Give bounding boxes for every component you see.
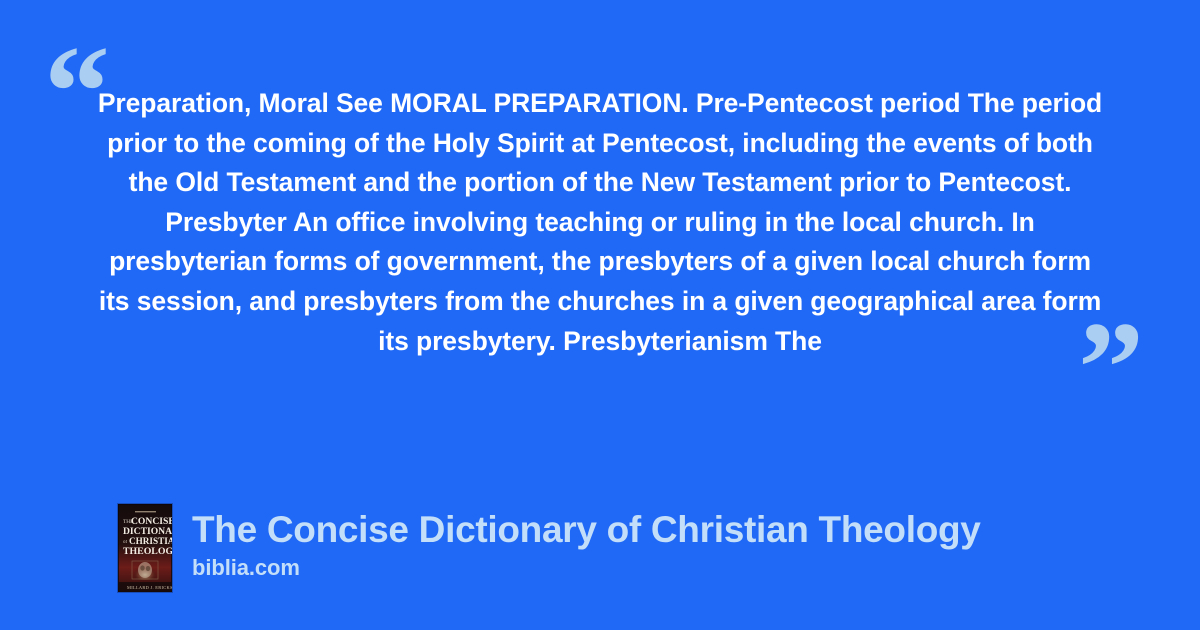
footer-text-block: The Concise Dictionary of Christian Theo… xyxy=(192,508,981,582)
svg-text:CHRISTIAN: CHRISTIAN xyxy=(129,536,172,546)
footer: THE CONCISE DICTIONARY of CHRISTIAN THEO… xyxy=(118,504,981,592)
svg-text:MILLARD J. ERICKSON: MILLARD J. ERICKSON xyxy=(127,585,172,590)
site-url: biblia.com xyxy=(192,554,981,582)
svg-text:THEOLOGY: THEOLOGY xyxy=(123,546,172,557)
book-cover-thumbnail: THE CONCISE DICTIONARY of CHRISTIAN THEO… xyxy=(118,504,172,592)
quote-card: “ Preparation, Moral See MORAL PREPARATI… xyxy=(0,0,1200,630)
quote-text: Preparation, Moral See MORAL PREPARATION… xyxy=(96,84,1104,361)
svg-text:of: of xyxy=(123,540,128,545)
quote-close-icon: ” xyxy=(1078,302,1144,434)
resource-title: The Concise Dictionary of Christian Theo… xyxy=(192,508,981,552)
